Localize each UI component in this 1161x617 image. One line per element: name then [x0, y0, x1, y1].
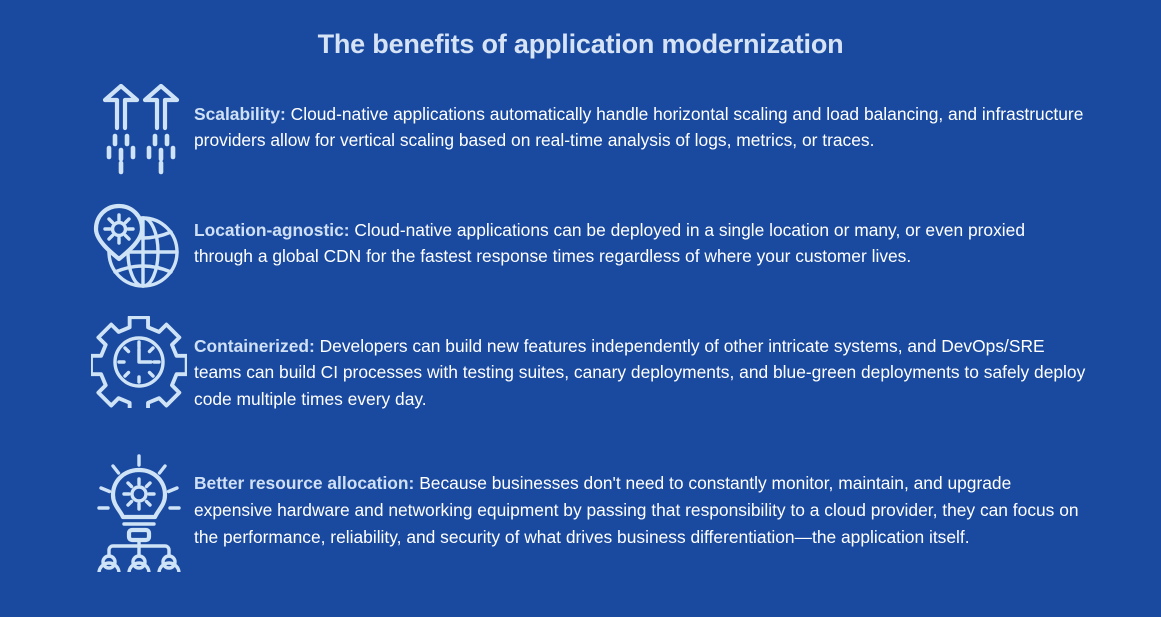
benefit-text-better-resource-allocation: Better resource allocation: Because busi… [194, 469, 1097, 550]
globe-location-pin-gear-icon [84, 198, 194, 292]
benefit-label: Containerized: [194, 336, 315, 356]
gear-clock-icon [84, 314, 194, 408]
benefit-label: Scalability: [194, 104, 286, 124]
benefit-item-containerized: Containerized: Developers can build new … [0, 314, 1161, 430]
infographic-panel: The benefits of application modernizatio… [0, 0, 1161, 617]
benefit-body: Cloud-native applications automatically … [194, 104, 1083, 151]
benefit-text-location-agnostic: Location-agnostic: Cloud-native applicat… [194, 216, 1097, 270]
benefit-item-better-resource-allocation: Better resource allocation: Because busi… [0, 452, 1161, 572]
benefit-item-scalability: Scalability: Cloud-native applications a… [0, 82, 1161, 176]
benefit-label: Location-agnostic: [194, 220, 350, 240]
lightbulb-gear-team-icon [84, 452, 194, 572]
benefits-list: Scalability: Cloud-native applications a… [0, 60, 1161, 572]
upward-arrows-scaling-icon [84, 82, 194, 176]
benefit-text-containerized: Containerized: Developers can build new … [194, 332, 1097, 413]
benefit-text-scalability: Scalability: Cloud-native applications a… [194, 100, 1097, 154]
benefit-label: Better resource allocation: [194, 473, 414, 493]
page-title: The benefits of application modernizatio… [0, 0, 1161, 60]
benefit-body: Developers can build new features indepe… [194, 336, 1085, 409]
benefit-item-location-agnostic: Location-agnostic: Cloud-native applicat… [0, 198, 1161, 292]
